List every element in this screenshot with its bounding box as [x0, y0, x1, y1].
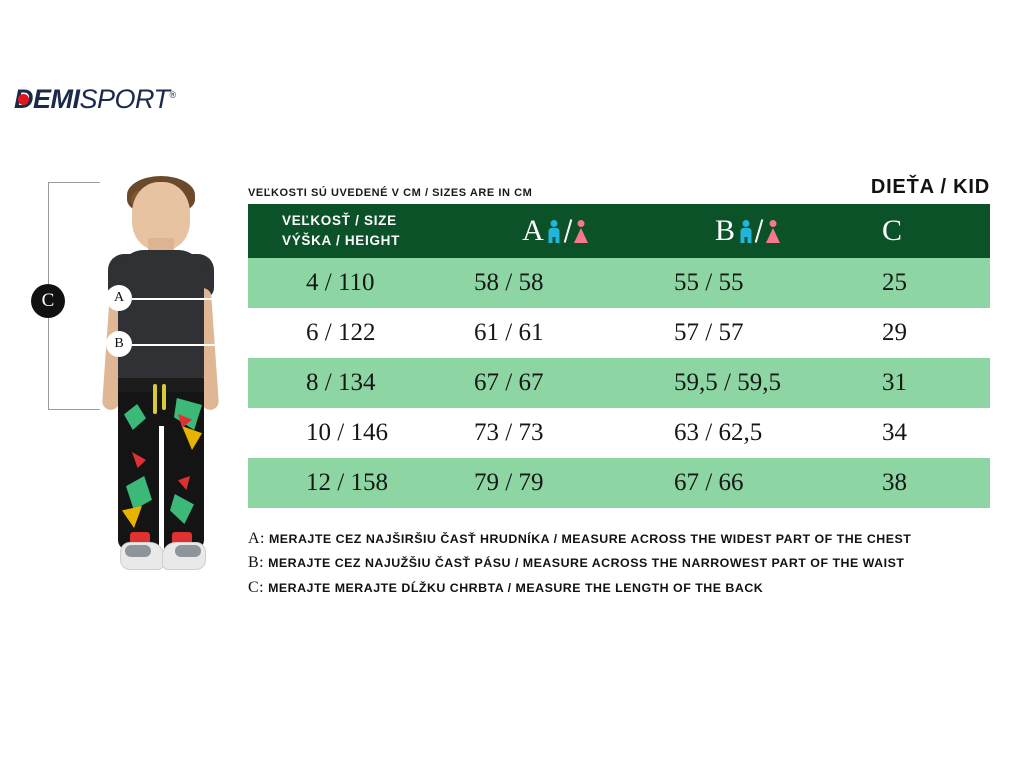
column-header-size-line1: VEĽKOSŤ / SIZE	[282, 211, 466, 231]
table-header-row: VEĽKOSŤ / SIZE VÝŠKA / HEIGHT A	[248, 204, 990, 258]
slash-divider-icon	[755, 219, 764, 243]
column-header-a: A	[466, 204, 644, 258]
note-b-text: MERAJTE CEZ NAJUŽŠIU ČASŤ PÁSU / MEASURE…	[264, 556, 904, 570]
female-icon	[766, 220, 779, 242]
note-c-text: MERAJTE MERAJTE DĹŽKU CHRBTA / MEASURE T…	[264, 581, 763, 595]
size-table-body: 4 / 110 58 / 58 55 / 55 25 6 / 122 61 / …	[248, 258, 990, 508]
note-c: C: MERAJTE MERAJTE DĹŽKU CHRBTA / MEASUR…	[248, 576, 1008, 600]
table-caption-row: VEĽKOSTI SÚ UVEDENÉ V CM / SIZES ARE IN …	[248, 176, 990, 204]
figure-drawcord-left	[153, 384, 157, 414]
marker-c: C	[31, 284, 65, 318]
size-chart-page: DEMISPORT® C	[0, 0, 1024, 768]
male-icon	[548, 220, 561, 242]
cell-b: 67 / 66	[644, 458, 850, 508]
cell-size: 12 / 158	[248, 458, 466, 508]
cell-size: 4 / 110	[248, 258, 466, 308]
column-header-size: VEĽKOSŤ / SIZE VÝŠKA / HEIGHT	[248, 204, 466, 258]
cell-a: 67 / 67	[466, 358, 644, 408]
column-header-b-letter: B	[715, 214, 735, 248]
logo-red-dot-icon	[18, 94, 29, 105]
female-icon	[575, 220, 588, 242]
note-b: B: MERAJTE CEZ NAJUŽŠIU ČASŤ PÁSU / MEAS…	[248, 551, 1008, 575]
cell-c: 31	[850, 358, 990, 408]
note-b-key: B:	[248, 554, 264, 571]
cell-c: 38	[850, 458, 990, 508]
cell-c: 25	[850, 258, 990, 308]
cell-a: 58 / 58	[466, 258, 644, 308]
marker-b: B	[106, 331, 132, 357]
marker-b-line	[132, 344, 232, 346]
figure-drawcord-right	[162, 384, 166, 410]
cell-b: 59,5 / 59,5	[644, 358, 850, 408]
size-table-block: VEĽKOSTI SÚ UVEDENÉ V CM / SIZES ARE IN …	[248, 176, 990, 508]
marker-a-line	[132, 298, 232, 300]
cell-a: 61 / 61	[466, 308, 644, 358]
brand-name-light: SPORT	[80, 84, 170, 114]
page-title: DIEŤA / KID	[871, 176, 990, 199]
figure-waistband	[118, 378, 204, 392]
units-caption: VEĽKOSTI SÚ UVEDENÉ V CM / SIZES ARE IN …	[248, 187, 532, 199]
table-row: 10 / 146 73 / 73 63 / 62,5 34	[248, 408, 990, 458]
measurement-illustration: C	[40, 176, 245, 631]
cell-b: 63 / 62,5	[644, 408, 850, 458]
note-a: A: MERAJTE CEZ NAJŠIRŠIU ČASŤ HRUDNÍKA /…	[248, 527, 1008, 551]
cell-c: 34	[850, 408, 990, 458]
table-row: 6 / 122 61 / 61 57 / 57 29	[248, 308, 990, 358]
table-row: 8 / 134 67 / 67 59,5 / 59,5 31	[248, 358, 990, 408]
figure-sneaker-left	[120, 542, 164, 570]
cell-size: 6 / 122	[248, 308, 466, 358]
column-header-size-line2: VÝŠKA / HEIGHT	[282, 231, 466, 251]
measurement-notes: A: MERAJTE CEZ NAJŠIRŠIU ČASŤ HRUDNÍKA /…	[248, 527, 1008, 600]
table-row: 12 / 158 79 / 79 67 / 66 38	[248, 458, 990, 508]
marker-a: A	[106, 285, 132, 311]
note-a-key: A:	[248, 530, 265, 547]
cell-a: 73 / 73	[466, 408, 644, 458]
cell-b: 55 / 55	[644, 258, 850, 308]
column-header-b: B	[644, 204, 850, 258]
figure-sleeveless-top	[118, 250, 204, 384]
column-header-c: C	[850, 204, 990, 258]
note-c-key: C:	[248, 579, 264, 596]
registered-mark: ®	[170, 90, 176, 100]
brand-logo-text: DEMISPORT®	[14, 86, 176, 113]
note-a-text: MERAJTE CEZ NAJŠIRŠIU ČASŤ HRUDNÍKA / ME…	[265, 532, 911, 546]
cell-size: 8 / 134	[248, 358, 466, 408]
figure-sneaker-right	[162, 542, 206, 570]
size-table: VEĽKOSŤ / SIZE VÝŠKA / HEIGHT A	[248, 204, 990, 508]
cell-b: 57 / 57	[644, 308, 850, 358]
size-table-head: VEĽKOSŤ / SIZE VÝŠKA / HEIGHT A	[248, 204, 990, 258]
brand-logo: DEMISPORT®	[14, 86, 176, 113]
cell-a: 79 / 79	[466, 458, 644, 508]
figure-leg-gap	[159, 426, 164, 554]
column-header-a-letter: A	[522, 214, 544, 248]
table-row: 4 / 110 58 / 58 55 / 55 25	[248, 258, 990, 308]
cell-size: 10 / 146	[248, 408, 466, 458]
child-figure-photo	[78, 176, 238, 631]
cell-c: 29	[850, 308, 990, 358]
male-icon	[739, 220, 752, 242]
slash-divider-icon	[564, 219, 573, 243]
